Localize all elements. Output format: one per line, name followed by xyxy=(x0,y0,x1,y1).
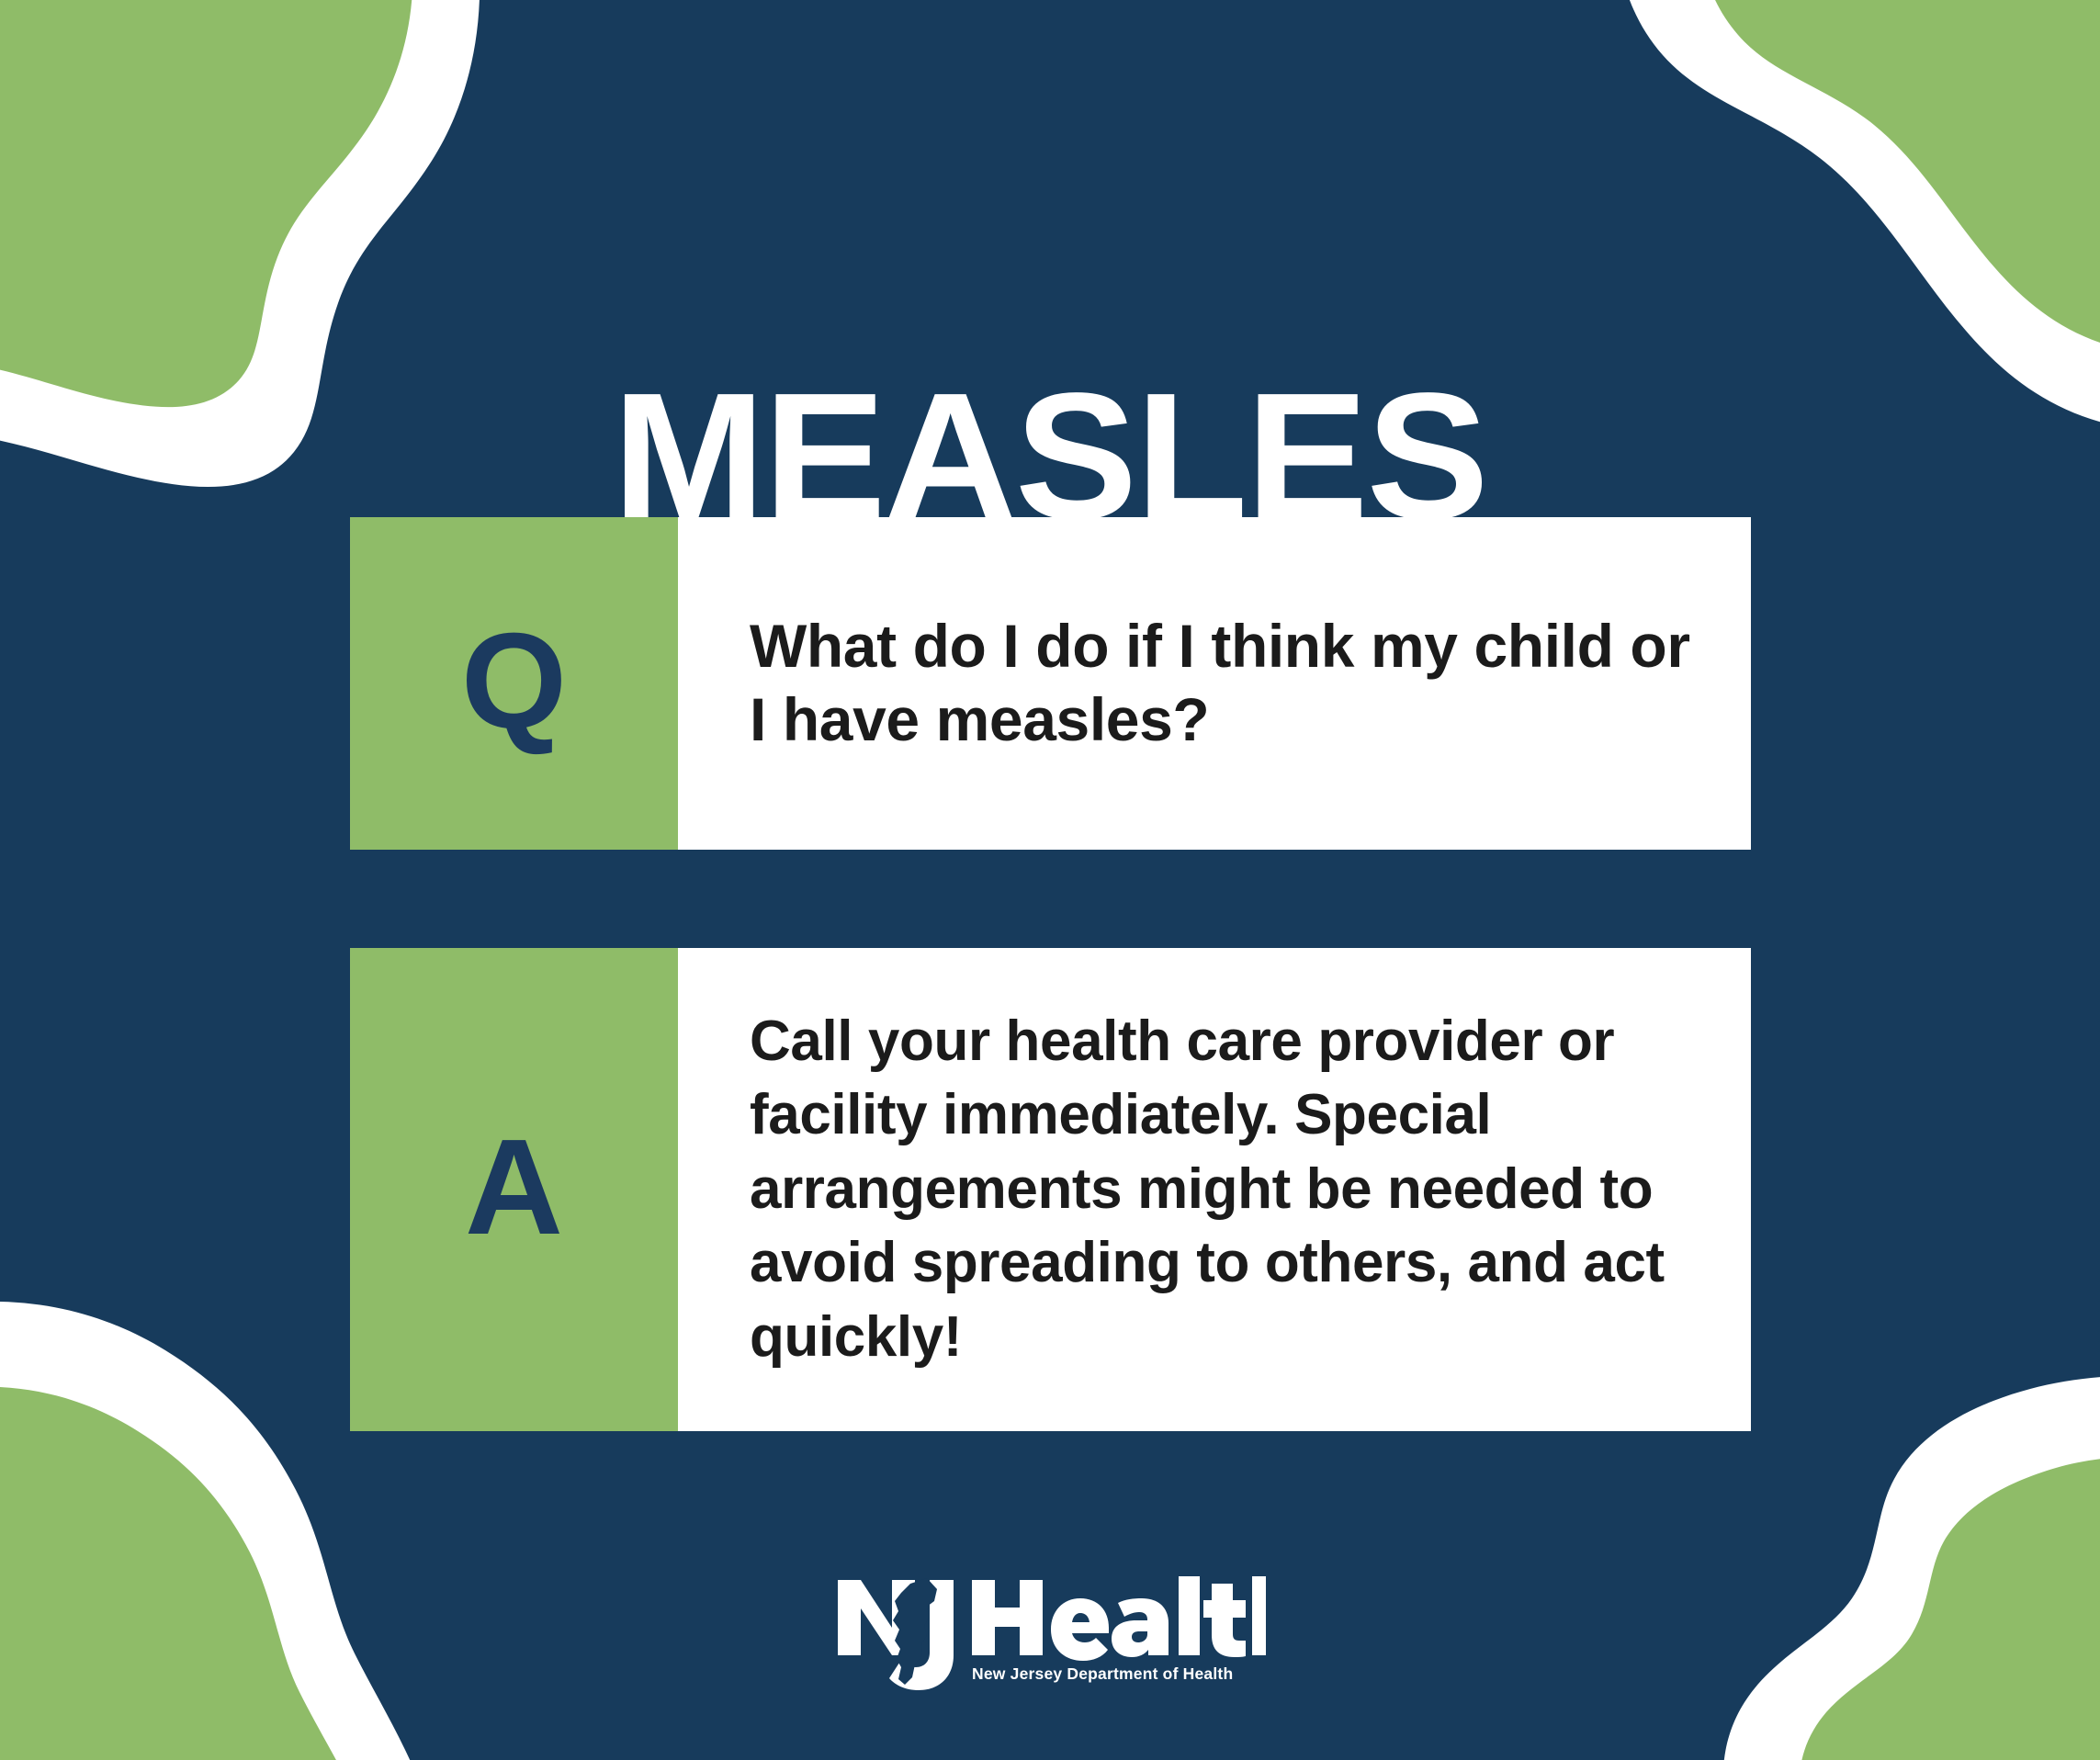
question-card: Q What do I do if I think my child or I … xyxy=(350,517,1751,850)
bottom-right-blob-outline xyxy=(1723,1376,2100,1760)
question-text: What do I do if I think my child or I ha… xyxy=(750,610,1690,757)
answer-card: A Call your health care provider or faci… xyxy=(350,948,1751,1431)
question-badge: Q xyxy=(350,517,678,850)
bottom-left-blob xyxy=(0,1387,364,1760)
answer-body: Call your health care provider or facili… xyxy=(678,948,1751,1431)
nj-health-logo-icon: New Jersey Department of Health xyxy=(834,1576,1266,1698)
question-body: What do I do if I think my child or I ha… xyxy=(678,517,1751,850)
logo-container: New Jersey Department of Health xyxy=(0,1576,2100,1698)
answer-text: Call your health care provider or facili… xyxy=(750,1005,1690,1375)
answer-badge: A xyxy=(350,948,678,1431)
logo-tagline-text: New Jersey Department of Health xyxy=(972,1664,1233,1683)
nj-health-logo: New Jersey Department of Health xyxy=(834,1576,1266,1698)
